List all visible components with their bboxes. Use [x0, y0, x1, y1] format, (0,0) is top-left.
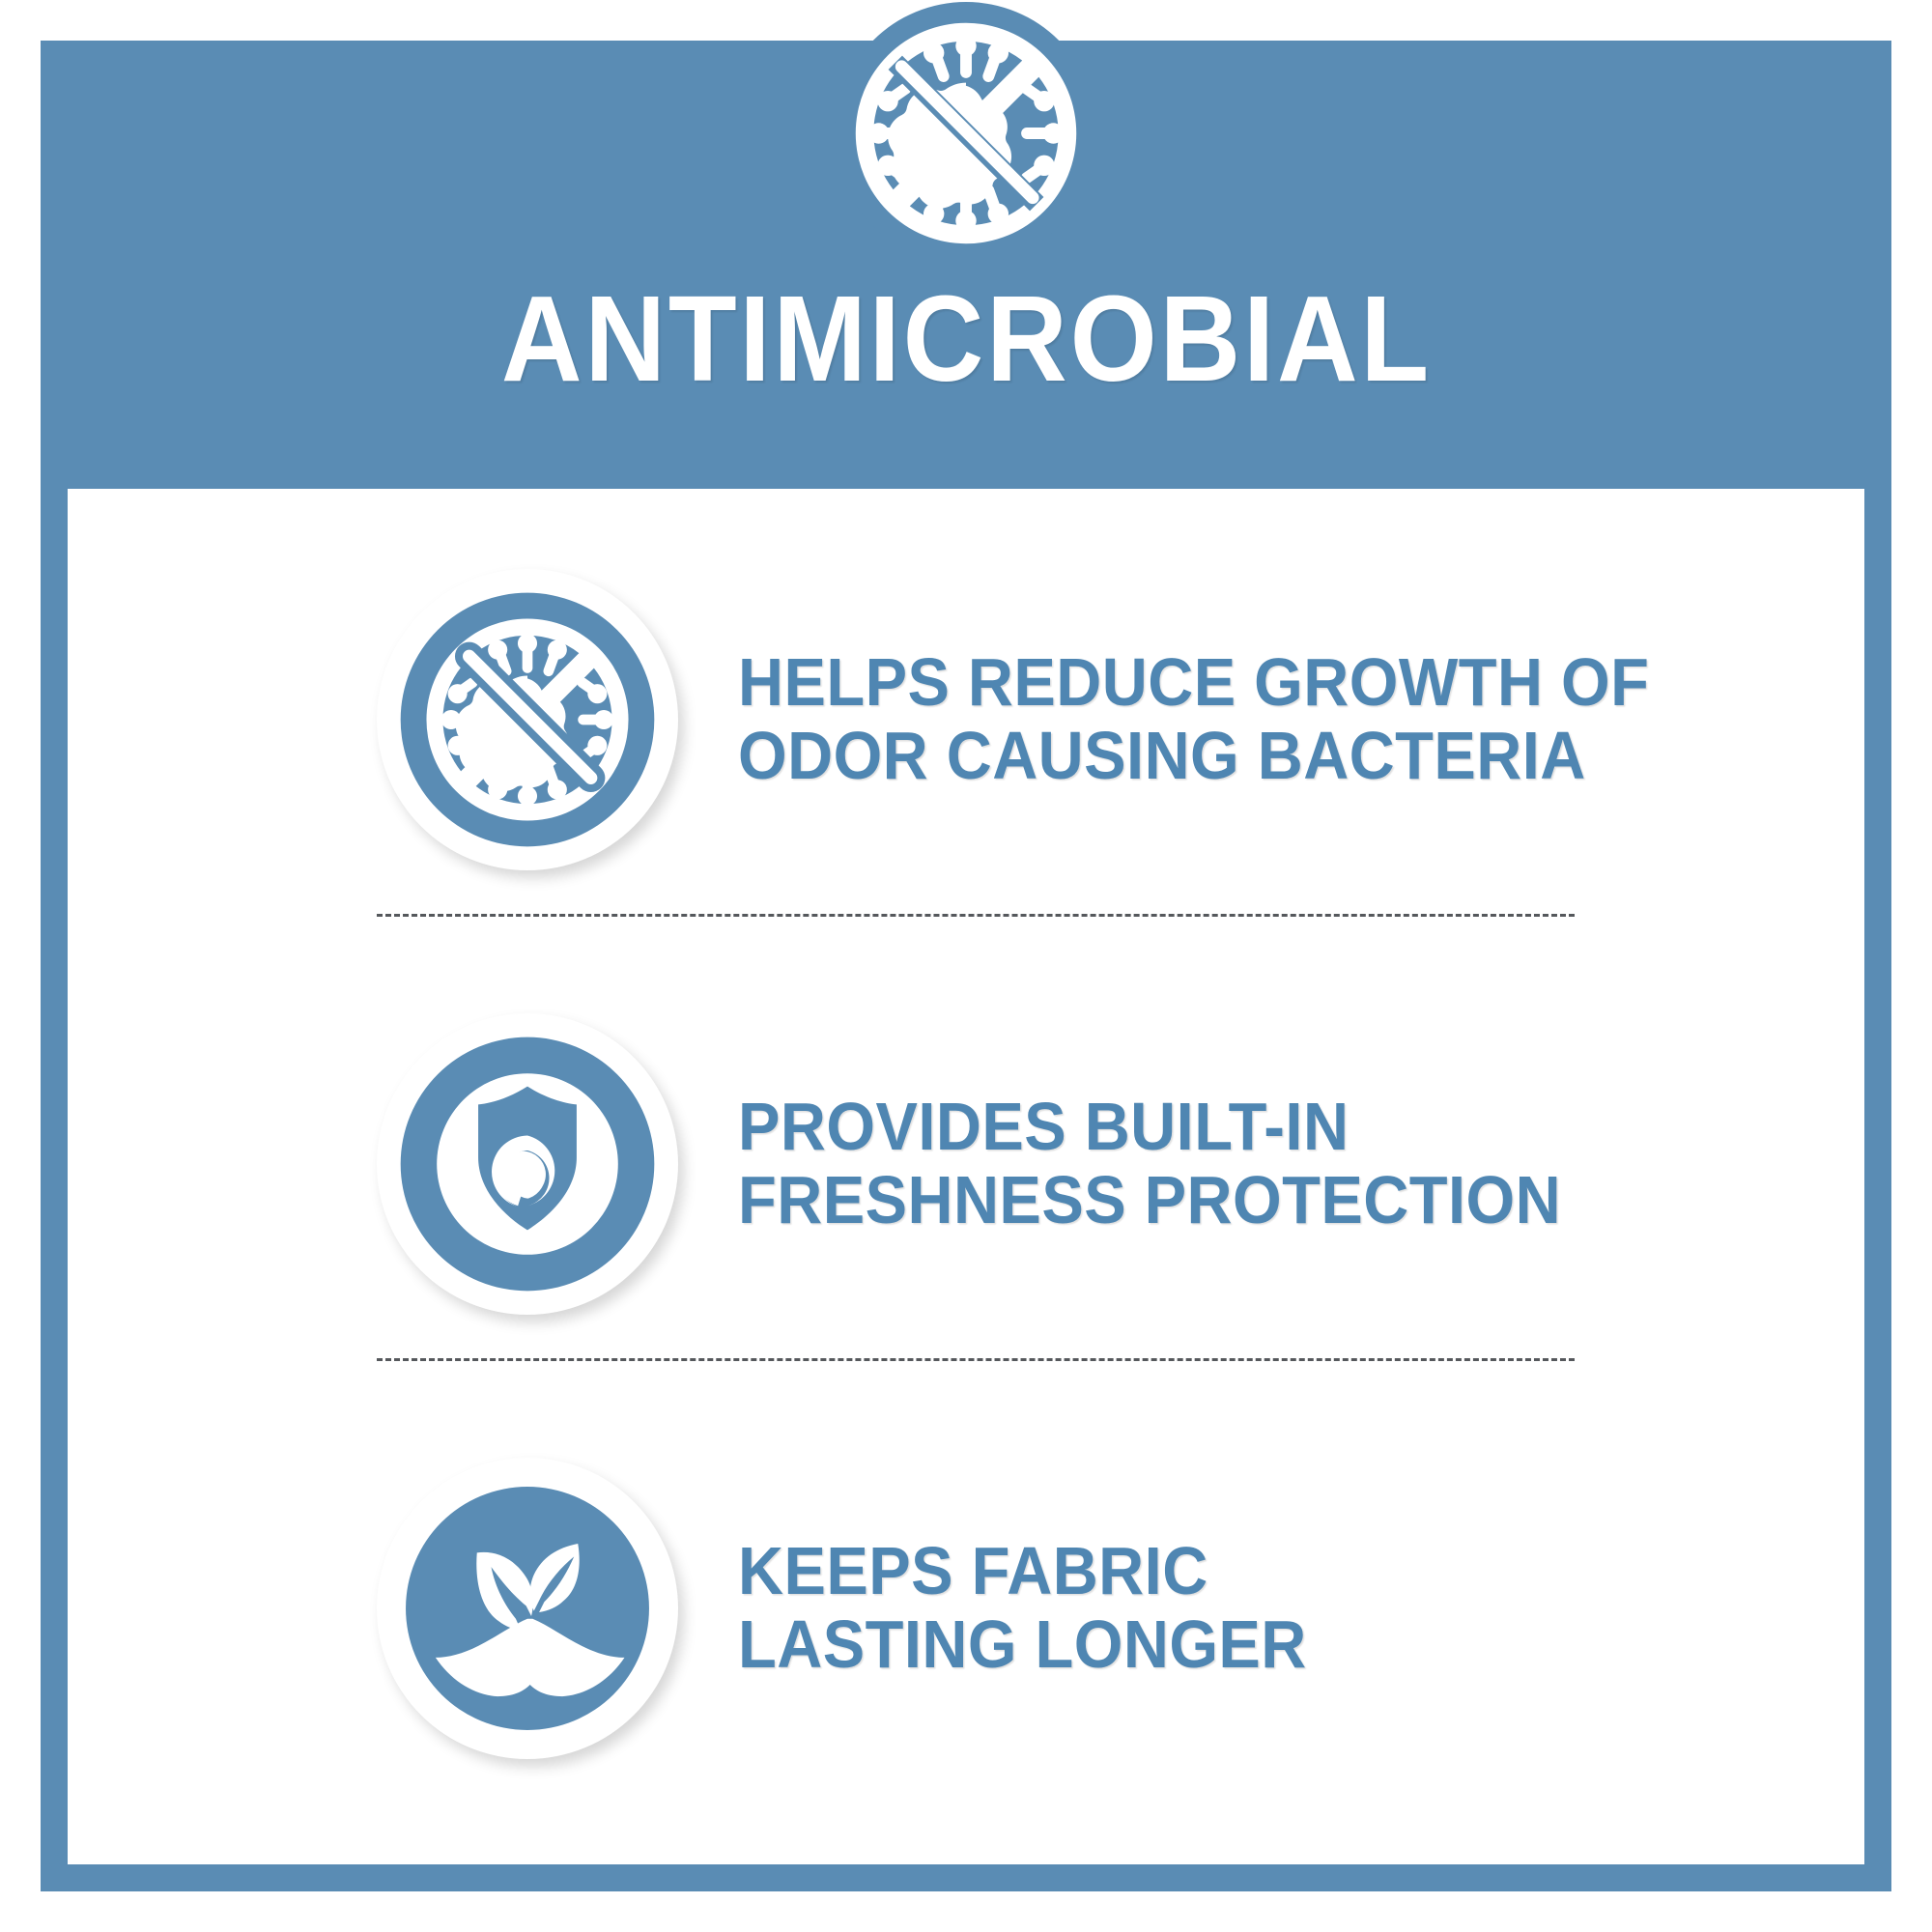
no-virus-icon	[835, 2, 1097, 265]
feature-text: PROVIDES BUILT-IN FRESHNESS PROTECTION	[738, 1091, 1561, 1236]
feature-row: PROVIDES BUILT-IN FRESHNESS PROTECTION	[377, 1005, 1575, 1323]
feature-text: KEEPS FABRIC LASTING LONGER	[738, 1535, 1307, 1681]
feature-row: KEEPS FABRIC LASTING LONGER	[377, 1449, 1575, 1768]
antimicrobial-infographic: ANTIMICROBIAL	[0, 0, 1932, 1932]
no-virus-badge-icon	[377, 569, 678, 870]
feature-line-2: FRESHNESS PROTECTION	[738, 1164, 1561, 1237]
feature-line-1: KEEPS FABRIC	[738, 1535, 1307, 1608]
feature-text: HELPS REDUCE GROWTH OF ODOR CAUSING BACT…	[738, 646, 1649, 792]
leaf-sprout-badge-icon	[377, 1458, 678, 1759]
feature-line-1: PROVIDES BUILT-IN	[738, 1091, 1561, 1164]
shield-swirl-badge-icon	[377, 1013, 678, 1315]
feature-row: HELPS REDUCE GROWTH OF ODOR CAUSING BACT…	[377, 560, 1575, 879]
feature-line-1: HELPS REDUCE GROWTH OF	[738, 646, 1649, 720]
divider	[377, 914, 1575, 917]
feature-list: HELPS REDUCE GROWTH OF ODOR CAUSING BACT…	[68, 489, 1864, 1864]
divider	[377, 1358, 1575, 1361]
feature-line-2: LASTING LONGER	[738, 1608, 1307, 1682]
feature-line-2: ODOR CAUSING BACTERIA	[738, 720, 1649, 793]
